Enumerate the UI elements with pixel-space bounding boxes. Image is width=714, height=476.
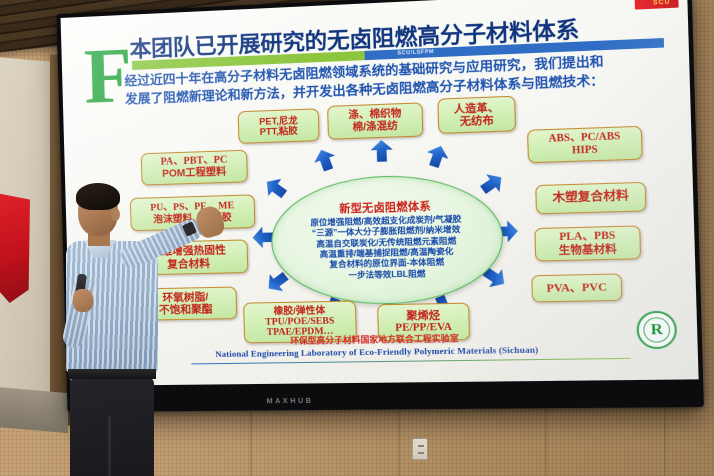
material-box-pet-nylon: PET,尼龙 PTT,粘胶 — [238, 108, 320, 144]
lab-f-logo: F — [83, 45, 129, 108]
material-box-textiles: 涤、棉织物 棉/涤混纺 — [327, 102, 423, 139]
box-line: 棉/涤混纺 — [352, 120, 398, 134]
box-line: 聚烯烃 — [406, 309, 440, 322]
material-box-wood-plastic: 木塑复合材料 — [535, 182, 646, 215]
display-brand-label: MAXHUB — [266, 398, 313, 406]
radial-arrow — [311, 146, 339, 174]
presenter-leg-split — [108, 416, 111, 476]
material-box-abs-pc: ABS、PC/ABS HIPS — [527, 126, 643, 163]
box-line: 木塑复合材料 — [552, 190, 629, 206]
seal-letter: R — [650, 321, 663, 339]
core-line: 一步法等效LBL阻燃 — [348, 269, 425, 281]
material-box-pva-pvc: PVA、PVC — [531, 273, 622, 302]
core-title: 新型无卤阻燃体系 — [339, 198, 431, 216]
presenter-hand-holding-mic — [73, 289, 93, 312]
presenter-ear — [111, 208, 120, 221]
presenter-hair — [76, 183, 120, 210]
radial-arrow — [260, 173, 291, 203]
core-system-ellipse: 新型无卤阻燃体系 原位增强阻燃/高效超支化成炭剂/气凝胶 “三源”一体大分子膨胀… — [270, 172, 505, 306]
radial-arrow — [423, 143, 451, 170]
box-line: PTT,粘胶 — [260, 125, 298, 137]
scu-badge: SCU — [635, 0, 679, 10]
wall-outlet — [412, 438, 428, 460]
baseboard — [0, 387, 68, 433]
material-box-engineering-plastics: PA、PBT、PC POM工程塑料 — [141, 150, 248, 186]
box-line: POM工程塑料 — [162, 167, 227, 181]
presenter-legs — [70, 376, 154, 476]
box-line: 生物基材料 — [559, 243, 617, 257]
radial-arrow — [370, 140, 393, 162]
presenter — [64, 186, 194, 476]
box-line: HIPS — [572, 144, 598, 157]
box-line: 橡胶/弹性体 — [273, 305, 325, 317]
red-banner — [0, 193, 30, 303]
footer-divider — [191, 358, 630, 365]
accent-bar-label: SCU/LSFPM — [397, 48, 434, 59]
box-line: 无纺布 — [460, 114, 494, 128]
material-box-bio-based: PLA、PBS 生物基材料 — [534, 225, 641, 261]
material-box-leather: 人造革、 无纺布 — [437, 96, 516, 134]
radial-arrow — [476, 168, 508, 199]
conference-room-scene: F SCU 本团队已开展研究的无卤阻燃高分子材料体系 SCU/LSFPM 经过近… — [0, 0, 714, 476]
box-line: PVA、PVC — [546, 281, 607, 296]
presenter-belt — [68, 369, 156, 379]
